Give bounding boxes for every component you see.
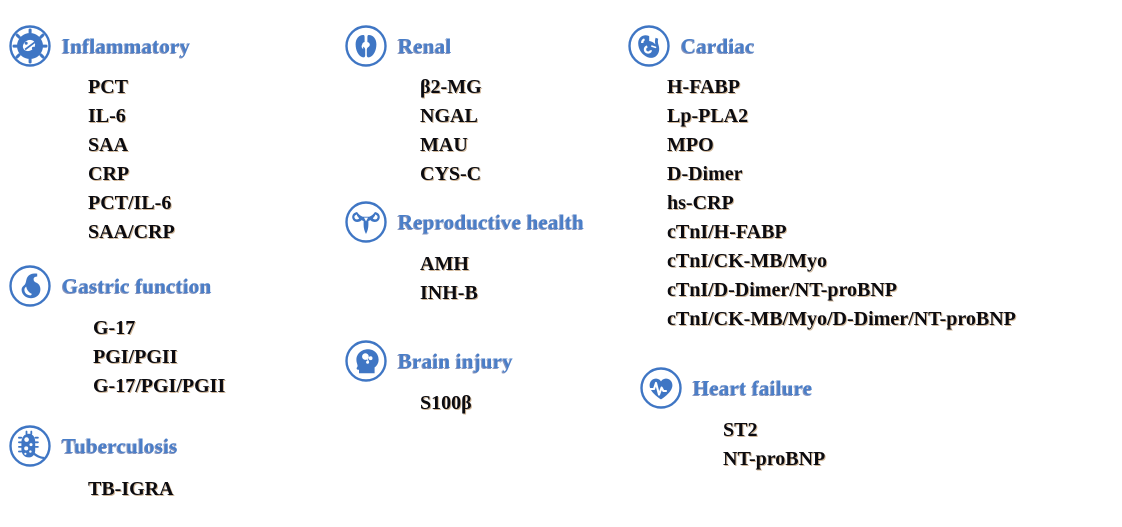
- marker-item: SAA: [88, 131, 190, 160]
- group-title: Gastric function: [62, 276, 212, 297]
- virus-icon: [8, 24, 52, 68]
- marker-item: ST2: [723, 416, 825, 445]
- marker-item: MAU: [420, 131, 482, 160]
- group-heart-failure: Heart failure ST2 NT-proBNP: [639, 366, 825, 474]
- group-title: Reproductive health: [398, 212, 584, 233]
- marker-item: hs-CRP: [667, 189, 1016, 218]
- marker-item: TB-IGRA: [88, 475, 178, 504]
- group-renal: Renal β2-MG NGAL MAU CYS-C: [344, 24, 482, 189]
- marker-item: PCT/IL-6: [88, 189, 190, 218]
- marker-item: NGAL: [420, 102, 482, 131]
- marker-item: Lp-PLA2: [667, 102, 1016, 131]
- marker-item: cTnI/D-Dimer/NT-proBNP: [667, 276, 1016, 305]
- group-title: Cardiac: [681, 36, 755, 57]
- marker-item: CRP: [88, 160, 190, 189]
- group-gastric-function: Gastric function G-17 PGI/PGII G-17/PGI/…: [8, 264, 225, 401]
- group-header: Renal: [344, 24, 482, 68]
- marker-item: cTnI/CK-MB/Myo: [667, 247, 1016, 276]
- group-title: Tuberculosis: [62, 436, 178, 457]
- group-brain-injury: Brain injury S100β: [344, 339, 513, 418]
- marker-item: G-17/PGI/PGII: [93, 372, 225, 401]
- group-title: Brain injury: [398, 351, 513, 372]
- group-header: Gastric function: [8, 264, 225, 308]
- marker-list: AMH INH-B: [420, 250, 584, 308]
- stomach-icon: [8, 264, 52, 308]
- group-header: Cardiac: [627, 24, 1016, 68]
- marker-item: INH-B: [420, 279, 584, 308]
- marker-item: S100β: [420, 389, 513, 418]
- uterus-icon: [344, 200, 388, 244]
- marker-list: β2-MG NGAL MAU CYS-C: [420, 73, 482, 189]
- heart-pulse-icon: [639, 366, 683, 410]
- marker-item: IL-6: [88, 102, 190, 131]
- group-title: Renal: [398, 36, 452, 57]
- marker-item: SAA/CRP: [88, 218, 190, 247]
- marker-item: D-Dimer: [667, 160, 1016, 189]
- marker-list: PCT IL-6 SAA CRP PCT/IL-6 SAA/CRP: [88, 73, 190, 247]
- marker-item: β2-MG: [420, 73, 482, 102]
- group-header: Reproductive health: [344, 200, 584, 244]
- marker-item: AMH: [420, 250, 584, 279]
- group-title: Heart failure: [693, 378, 812, 399]
- head-brain-icon: [344, 339, 388, 383]
- marker-item: CYS-C: [420, 160, 482, 189]
- marker-item: PCT: [88, 73, 190, 102]
- anatomical-heart-icon: [627, 24, 671, 68]
- bacterium-icon: [8, 424, 52, 468]
- group-cardiac: Cardiac H-FABP Lp-PLA2 MPO D-Dimer hs-CR…: [627, 24, 1016, 334]
- marker-list: ST2 NT-proBNP: [723, 416, 825, 474]
- marker-item: MPO: [667, 131, 1016, 160]
- group-header: Inflammatory: [8, 24, 190, 68]
- marker-list: G-17 PGI/PGII G-17/PGI/PGII: [93, 314, 225, 401]
- marker-item: G-17: [93, 314, 225, 343]
- marker-list: TB-IGRA: [88, 475, 178, 504]
- group-header: Brain injury: [344, 339, 513, 383]
- marker-item: PGI/PGII: [93, 343, 225, 372]
- group-title: Inflammatory: [62, 36, 190, 57]
- marker-item: NT-proBNP: [723, 445, 825, 474]
- marker-item: cTnI/H-FABP: [667, 218, 1016, 247]
- marker-list: H-FABP Lp-PLA2 MPO D-Dimer hs-CRP cTnI/H…: [667, 73, 1016, 334]
- group-inflammatory: Inflammatory PCT IL-6 SAA CRP PCT/IL-6 S…: [8, 24, 190, 247]
- group-reproductive-health: Reproductive health AMH INH-B: [344, 200, 584, 308]
- marker-list: S100β: [420, 389, 513, 418]
- group-header: Tuberculosis: [8, 424, 178, 468]
- biomarker-panel-board: Inflammatory PCT IL-6 SAA CRP PCT/IL-6 S…: [0, 0, 1122, 527]
- group-header: Heart failure: [639, 366, 825, 410]
- marker-item: cTnI/CK-MB/Myo/D-Dimer/NT-proBNP: [667, 305, 1016, 334]
- group-tuberculosis: Tuberculosis TB-IGRA: [8, 424, 178, 504]
- kidneys-icon: [344, 24, 388, 68]
- marker-item: H-FABP: [667, 73, 1016, 102]
